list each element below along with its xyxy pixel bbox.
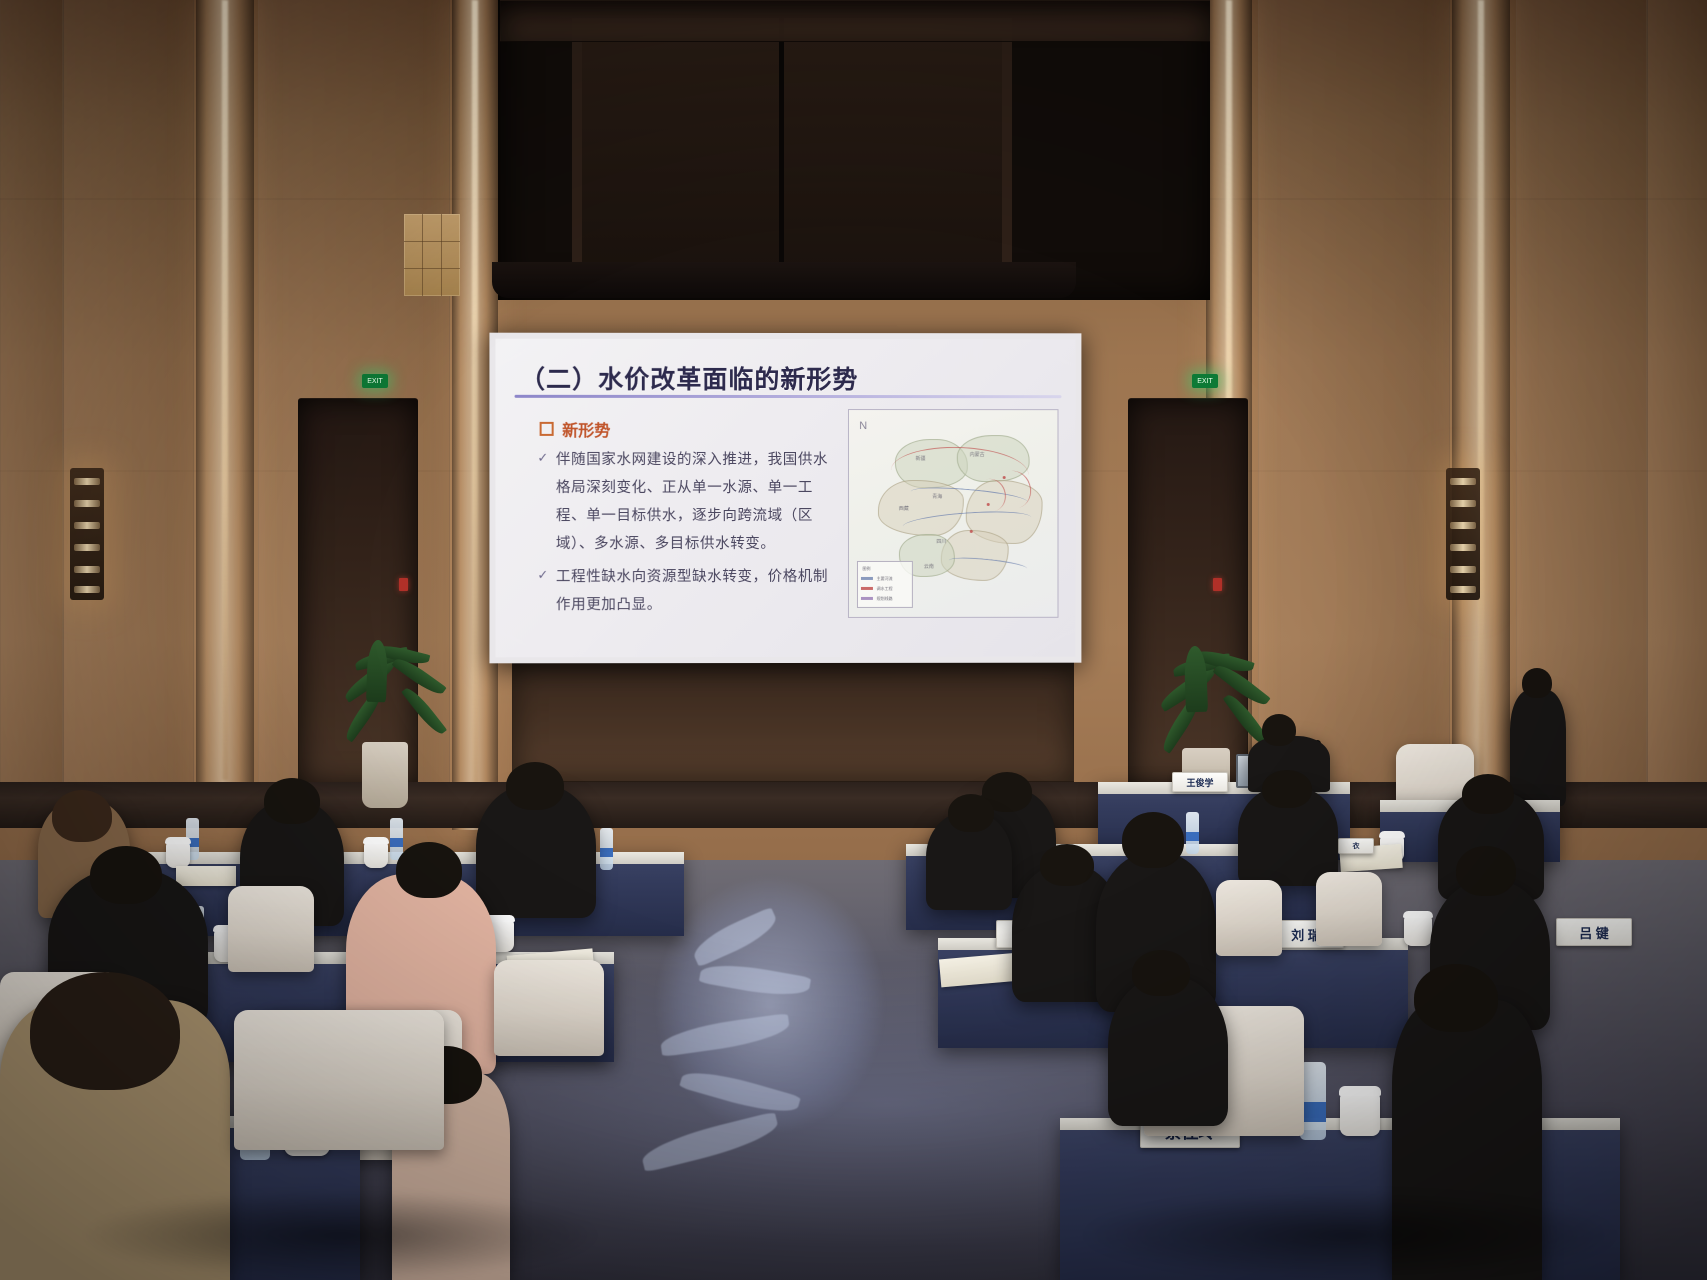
floor-shadow-left — [80, 1190, 600, 1280]
wall-decor-tile — [404, 214, 460, 296]
tea-cup-r2[interactable] — [1404, 916, 1432, 946]
attendee-r1-b-head — [1262, 770, 1312, 808]
chair-r2-2[interactable] — [1316, 872, 1382, 946]
door-niche-right[interactable] — [1128, 398, 1248, 788]
attendee-r3-a-head — [1132, 950, 1190, 996]
wall-panel-right-1 — [1646, 0, 1707, 820]
fire-alarm-panel-left — [399, 578, 408, 591]
wall-panel-left-1 — [0, 0, 64, 820]
map-place-label-3: 内蒙古 — [970, 451, 985, 458]
slide-body-text: ✓ 伴随国家水网建设的深入推进，我国供水格局深刻变化、正从单一水源、单一工程、单… — [537, 445, 839, 619]
nameplate-lvjian: 吕 键 — [1556, 918, 1632, 946]
exit-sign-right-label: EXIT — [1197, 378, 1213, 385]
tea-cup-l1-a[interactable] — [166, 842, 190, 868]
map-legend-swatch-3 — [861, 597, 873, 600]
wall-recess-center — [500, 0, 1210, 42]
tea-cup-lid-l1-a — [165, 837, 191, 844]
attendee-r3-a — [1108, 976, 1228, 1126]
attendee-l1-b-head — [264, 778, 320, 824]
map-legend-swatch-2 — [861, 587, 873, 590]
map-place-label-4: 四川 — [936, 538, 946, 545]
attendee-r2-b-head — [1122, 812, 1184, 868]
slide-bullet-1: ✓ 伴随国家水网建设的深入推进，我国供水格局深刻变化、正从单一水源、单一工程、单… — [537, 445, 839, 558]
slide-title: （二）水价改革面临的新形势 — [520, 359, 858, 395]
attendee-standing-staff-head — [1522, 668, 1552, 698]
map-legend-row-2: 调水工程 — [877, 585, 893, 589]
chair-r2-1[interactable] — [1216, 880, 1282, 956]
central-frame-divider — [779, 18, 784, 264]
chair-l2-4[interactable] — [494, 960, 604, 1056]
wall-panel-left-2 — [62, 0, 194, 820]
nameplate-r1-right: 衣 — [1338, 838, 1374, 854]
attendee-r2-c-head — [1456, 846, 1516, 896]
slide-map-figure: N 新疆 西藏 青海 内蒙古 四川 — [848, 409, 1058, 618]
chair-l3-1[interactable] — [234, 1010, 444, 1150]
check-icon-1: ✓ — [537, 445, 549, 470]
attendee-l3-a-head — [30, 972, 180, 1090]
nameplate-head-table: 王俊学 — [1172, 772, 1228, 792]
compass-icon: N — [859, 420, 875, 442]
attendee-l2-b-head — [396, 842, 462, 898]
exit-sign-left: EXIT — [362, 374, 388, 388]
pilaster-left-outer-core — [222, 0, 228, 780]
notepad-l1[interactable] — [176, 866, 236, 886]
attendee-r3-b-head — [1414, 964, 1498, 1032]
planter-left — [362, 742, 408, 808]
attendee-center-rear-head — [948, 794, 994, 832]
wall-sconce-right — [1446, 468, 1480, 600]
slide-bullet-2: ✓ 工程性缺水向资源型缺水转变，价格机制作用更加凸显。 — [537, 563, 839, 620]
map-place-label-2: 青海 — [932, 493, 942, 500]
tea-cup-lid-l1-b — [363, 837, 389, 844]
tea-cup-r3[interactable] — [1340, 1094, 1380, 1136]
presentation-slide: （二）水价改革面临的新形势 新形势 ✓ 伴随国家水网建设的深入推进，我国供水格局… — [495, 339, 1075, 658]
attendee-r1-c-head — [1462, 774, 1514, 814]
map-city-dot-3 — [970, 530, 973, 533]
exit-sign-left-label: EXIT — [367, 378, 383, 385]
nameplate-r1-right-label: 衣 — [1353, 841, 1360, 851]
check-icon-2: ✓ — [537, 563, 549, 588]
attendee-r2-a-head — [1040, 844, 1094, 886]
slide-bullet-1-text: 伴随国家水网建设的深入推进，我国供水格局深刻变化、正从单一水源、单一工程、单一目… — [556, 445, 839, 558]
floor-shadow-right — [1080, 1190, 1620, 1280]
tea-cup-lid-r1 — [1379, 831, 1405, 838]
map-legend-row-1: 主要河流 — [877, 575, 893, 579]
wall-band-below-screen — [512, 660, 1074, 782]
tea-cup-lid-r3 — [1339, 1086, 1381, 1096]
wall-sconce-left — [70, 468, 104, 600]
wall-panel-right-3 — [1258, 0, 1450, 820]
slide-title-rule — [514, 394, 1062, 397]
pilaster-right-outer-core — [1478, 0, 1484, 780]
attendee-l1-c-head — [506, 762, 564, 810]
pilaster-left-inner-core — [472, 0, 478, 800]
nameplate-head-table-label: 王俊学 — [1186, 776, 1213, 789]
map-legend-title: 图例 — [862, 565, 870, 569]
chair-l2-1[interactable] — [228, 886, 314, 972]
attendee-standing-staff — [1510, 690, 1566, 806]
water-bottle-l1-c[interactable] — [600, 828, 613, 870]
map-place-label-1: 西藏 — [899, 505, 909, 512]
map-legend-swatch-1 — [861, 577, 873, 580]
square-bullet-icon — [539, 422, 553, 436]
slide-section-heading-label: 新形势 — [562, 417, 610, 441]
projection-screen[interactable]: （二）水价改革面临的新形势 新形势 ✓ 伴随国家水网建设的深入推进，我国供水格局… — [489, 333, 1081, 664]
attendee-l2-a-head — [90, 846, 162, 904]
map-legend-row-3: 规划线路 — [877, 595, 893, 599]
attendee-l1-a-head — [52, 790, 112, 842]
slide-section-heading: 新形势 — [539, 417, 610, 441]
central-frame-inner — [572, 18, 1012, 284]
map-city-dot-2 — [986, 503, 989, 506]
water-bottle-r1[interactable] — [1186, 812, 1199, 854]
presenter-head — [1262, 714, 1296, 746]
map-legend: 图例 主要河流 调水工程 规划线路 — [857, 561, 913, 608]
slide-bullet-2-text: 工程性缺水向资源型缺水转变，价格机制作用更加凸显。 — [556, 563, 839, 620]
nameplate-lvjian-label: 吕 键 — [1579, 923, 1609, 942]
conference-room-scene: EXIT EXIT （二）水价改革面临的新形势 新形势 — [0, 0, 1707, 1280]
screen-valance — [492, 262, 1076, 298]
tea-cup-l1-b[interactable] — [364, 842, 388, 868]
fire-alarm-panel-right — [1213, 578, 1222, 591]
map-place-label-5: 云南 — [924, 563, 934, 570]
tea-cup-lid-r2 — [1403, 911, 1433, 918]
exit-sign-right: EXIT — [1192, 374, 1218, 388]
map-place-label-0: 新疆 — [916, 455, 926, 462]
